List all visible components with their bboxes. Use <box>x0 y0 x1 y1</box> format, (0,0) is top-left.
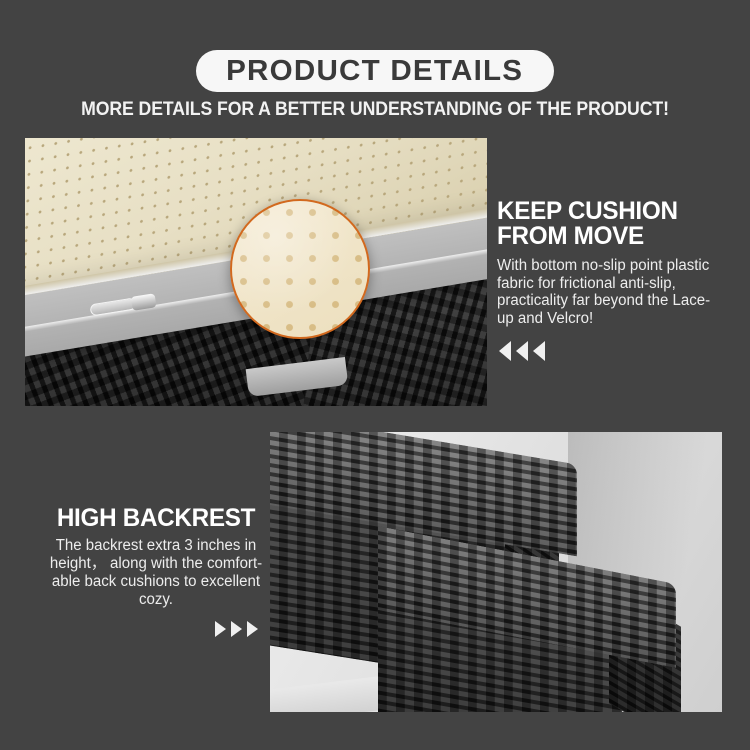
feature-body-text: The backrest extra 3 inches in height， a… <box>43 537 268 609</box>
magnifier-circle-inset <box>230 199 370 339</box>
feature-block-high-backrest: HIGH BACKREST The backrest extra 3 inche… <box>40 505 272 609</box>
backrest-detail-photo <box>270 432 722 712</box>
page-title-pill: PRODUCT DETAILS <box>196 50 554 92</box>
arrows-left-group <box>499 341 545 361</box>
triangle-right-icon <box>231 621 242 637</box>
magnifier-gloss <box>232 201 368 337</box>
feature-body-text: With bottom no-slip point plastic fabric… <box>497 257 722 327</box>
infographic-canvas: PRODUCT DETAILS MORE DETAILS FOR A BETTE… <box>0 0 750 750</box>
triangle-left-icon <box>499 341 511 361</box>
feature-heading-line2: FROM MOVE <box>497 224 722 249</box>
cushion-detail-photo <box>25 138 487 406</box>
page-title: PRODUCT DETAILS <box>226 55 523 88</box>
arrows-right-group <box>215 621 258 637</box>
cushion-scene <box>25 138 487 406</box>
feature-block-keep-cushion: KEEP CUSHION FROM MOVE With bottom no-sl… <box>497 199 729 327</box>
triangle-left-icon <box>516 341 528 361</box>
feature-heading-line1: KEEP CUSHION <box>497 199 722 224</box>
triangle-right-icon <box>215 621 226 637</box>
rattan-scene <box>270 432 722 712</box>
feature-heading-line1: HIGH BACKREST <box>43 505 268 531</box>
page-subtitle: MORE DETAILS FOR A BETTER UNDERSTANDING … <box>26 99 724 121</box>
triangle-left-icon <box>533 341 545 361</box>
triangle-right-icon <box>247 621 258 637</box>
